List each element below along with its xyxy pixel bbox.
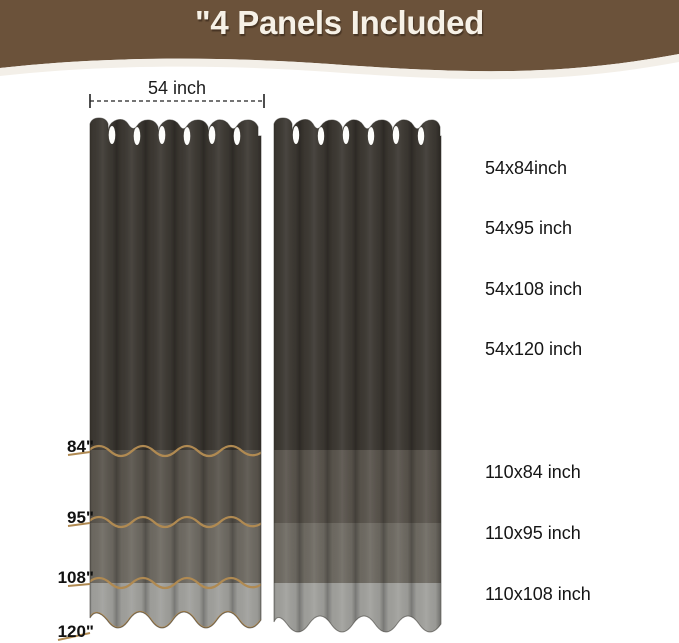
tick-leader-lines (58, 452, 90, 640)
size-label-110x108: 110x108 inch (485, 584, 591, 605)
size-label-54x120: 54x120 inch (485, 339, 582, 360)
curtain-panel-right (270, 110, 446, 643)
height-tick-108: 108" (58, 568, 94, 588)
size-label-54x84: 54x84inch (485, 158, 567, 179)
curtain-panel-left (86, 110, 266, 643)
infographic-stage: "4 Panels Included 54 inch (0, 0, 679, 643)
height-tick-120: 120" (58, 622, 94, 642)
height-tick-84: 84" (67, 437, 94, 457)
size-label-110x84: 110x84 inch (485, 462, 581, 483)
size-label-54x95: 54x95 inch (485, 218, 572, 239)
size-label-54x108: 54x108 inch (485, 279, 582, 300)
curtain-illustration (0, 0, 679, 643)
size-label-110x95: 110x95 inch (485, 523, 581, 544)
height-tick-95: 95" (67, 508, 94, 528)
